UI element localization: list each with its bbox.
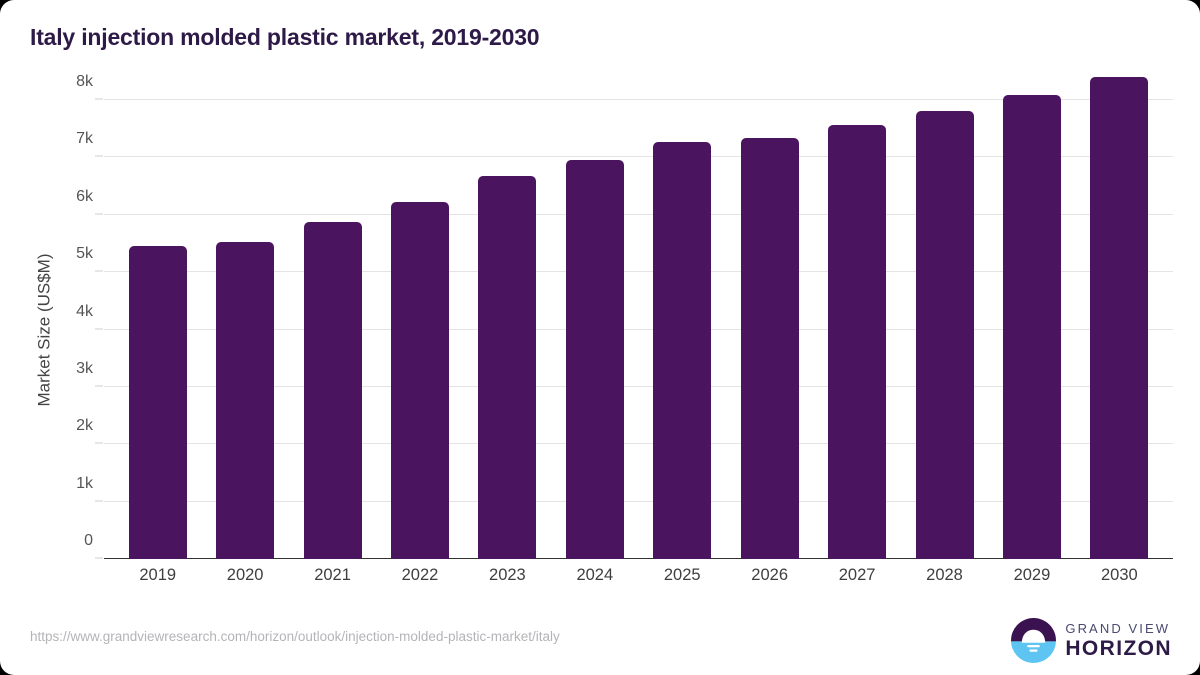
logo-line-grand-view: GRAND VIEW	[1065, 622, 1172, 635]
bar-2024[interactable]	[566, 160, 624, 559]
bar-2022[interactable]	[391, 202, 449, 559]
y-tick-label: 0	[84, 532, 93, 550]
x-tick-label-2021: 2021	[289, 566, 376, 594]
x-tick-label-2030: 2030	[1076, 566, 1163, 594]
bar-series	[104, 100, 1173, 559]
y-tick-mark	[95, 385, 103, 386]
y-tick-mark	[95, 99, 103, 100]
y-tick-label: 6k	[76, 188, 93, 206]
bar-slot	[639, 100, 726, 559]
grand-view-horizon-logo: GRAND VIEW HORIZON	[1011, 617, 1172, 663]
source-url[interactable]: https://www.grandviewresearch.com/horizo…	[30, 629, 560, 644]
horizon-circle-logo-icon	[1011, 618, 1056, 663]
bar-slot	[901, 100, 988, 559]
y-tick-mark	[95, 328, 103, 329]
x-tick-label-2023: 2023	[464, 566, 551, 594]
y-tick-label: 4k	[76, 303, 93, 321]
bar-2025[interactable]	[653, 142, 711, 559]
bar-slot	[551, 100, 638, 559]
bar-2026[interactable]	[741, 138, 799, 559]
bar-2023[interactable]	[478, 176, 536, 559]
y-tick-mark	[95, 271, 103, 272]
x-tick-label-2019: 2019	[114, 566, 201, 594]
bar-slot	[114, 100, 201, 559]
x-tick-label-2024: 2024	[551, 566, 638, 594]
bar-slot	[376, 100, 463, 559]
bar-2028[interactable]	[916, 111, 974, 559]
y-tick-mark	[95, 156, 103, 157]
bar-2019[interactable]	[129, 246, 187, 559]
bar-slot	[1076, 100, 1163, 559]
bar-slot	[201, 100, 288, 559]
chart-card: Italy injection molded plastic market, 2…	[0, 0, 1200, 675]
y-tick-mark	[95, 558, 103, 559]
x-tick-label-2022: 2022	[376, 566, 463, 594]
y-axis-title: Market Size (US$M)	[32, 100, 58, 559]
x-tick-label-2026: 2026	[726, 566, 813, 594]
y-tick-label: 7k	[76, 130, 93, 148]
x-tick-label-2020: 2020	[201, 566, 288, 594]
y-tick-label: 3k	[76, 360, 93, 378]
x-tick-label-2025: 2025	[639, 566, 726, 594]
x-tick-label-2029: 2029	[988, 566, 1075, 594]
y-tick-label: 5k	[76, 245, 93, 263]
bar-2030[interactable]	[1090, 77, 1148, 559]
y-tick-label: 1k	[76, 475, 93, 493]
bar-2020[interactable]	[216, 242, 274, 559]
bar-2027[interactable]	[828, 125, 886, 559]
bar-slot	[726, 100, 813, 559]
bar-slot	[464, 100, 551, 559]
logo-line-horizon: HORIZON	[1065, 638, 1172, 659]
plot-area: 01k2k3k4k5k6k7k8k	[104, 100, 1173, 559]
y-tick-label: 8k	[76, 73, 93, 91]
page-title: Italy injection molded plastic market, 2…	[30, 24, 539, 51]
y-tick-mark	[95, 213, 103, 214]
bar-2029[interactable]	[1003, 95, 1061, 559]
bar-slot	[988, 100, 1075, 559]
x-tick-label-2028: 2028	[901, 566, 988, 594]
bar-slot	[813, 100, 900, 559]
y-tick-mark	[95, 443, 103, 444]
bar-2021[interactable]	[304, 222, 362, 559]
x-axis-labels: 2019202020212022202320242025202620272028…	[104, 566, 1173, 594]
logo-text: GRAND VIEW HORIZON	[1065, 622, 1172, 659]
y-axis-title-label: Market Size (US$M)	[35, 253, 55, 406]
bar-slot	[289, 100, 376, 559]
y-tick-mark	[95, 500, 103, 501]
y-tick-label: 2k	[76, 417, 93, 435]
x-tick-label-2027: 2027	[813, 566, 900, 594]
